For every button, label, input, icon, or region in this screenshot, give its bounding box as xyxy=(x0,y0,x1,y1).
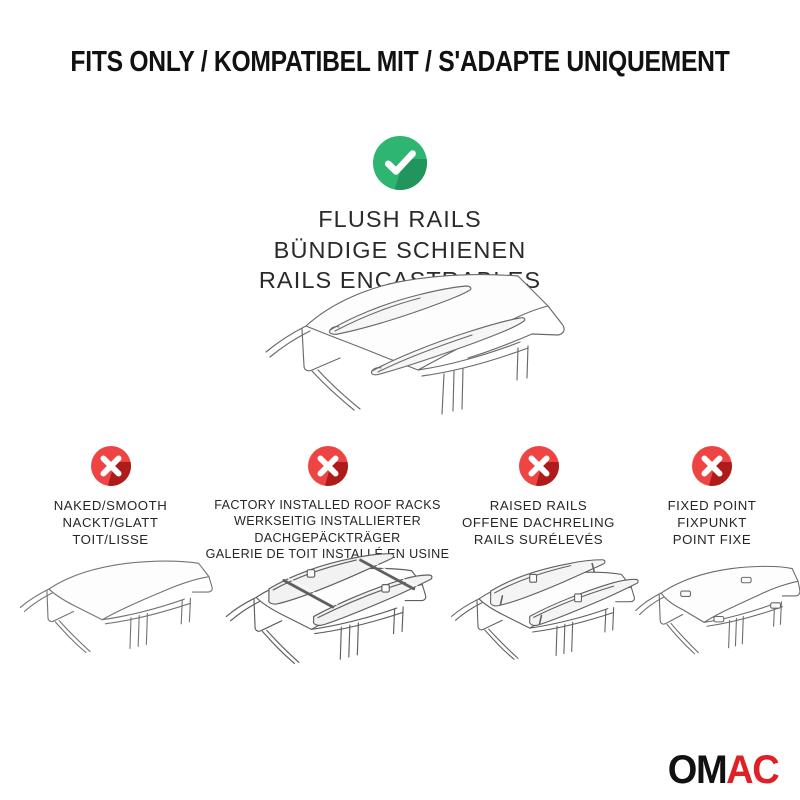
x-circle-icon xyxy=(519,446,559,486)
x-circle-icon xyxy=(91,446,131,486)
car-roof-raised-rails-illustration xyxy=(436,550,641,671)
car-roof-naked-smooth-illustration xyxy=(8,550,213,673)
option-label-fr: POINT FIXE xyxy=(624,531,800,548)
option-caption: RAISED RAILS OFFENE DACHRELING RAILS SUR… xyxy=(436,497,641,548)
option-fixed-point: FIXED POINT FIXPUNKT POINT FIXE xyxy=(624,446,800,548)
option-label-de: NACKT/GLATT xyxy=(8,514,213,531)
option-label-en: FIXED POINT xyxy=(624,497,800,514)
car-roof-fixed-point-illustration xyxy=(624,550,800,669)
option-caption: FIXED POINT FIXPUNKT POINT FIXE xyxy=(624,497,800,548)
logo-text-dark: OM xyxy=(668,748,726,792)
check-circle-icon xyxy=(373,136,427,190)
x-circle-icon xyxy=(692,446,732,486)
option-caption: NAKED/SMOOTH NACKT/GLATT TOIT/LISSE xyxy=(8,497,213,548)
x-circle-icon xyxy=(308,446,348,486)
option-factory-roof-racks: FACTORY INSTALLED ROOF RACKS WERKSEITIG … xyxy=(205,446,450,562)
option-label-en: RAISED RAILS xyxy=(436,497,641,514)
car-roof-flush-rails-illustration xyxy=(232,270,584,432)
option-label-de: FIXPUNKT xyxy=(624,514,800,531)
omac-logo: OMAC xyxy=(668,750,778,790)
option-label-en: NAKED/SMOOTH xyxy=(8,497,213,514)
incompatible-options-row: NAKED/SMOOTH NACKT/GLATT TOIT/LISSE xyxy=(0,446,800,696)
logo-text-red: AC xyxy=(726,748,778,792)
page-header: FITS ONLY / KOMPATIBEL MIT / S'ADAPTE UN… xyxy=(0,48,800,78)
car-roof-factory-racks-illustration xyxy=(205,542,450,678)
page-title: FITS ONLY / KOMPATIBEL MIT / S'ADAPTE UN… xyxy=(70,48,729,78)
compatible-label-en: FLUSH RAILS xyxy=(0,204,800,235)
option-label-de: OFFENE DACHRELING xyxy=(436,514,641,531)
option-label-en: FACTORY INSTALLED ROOF RACKS xyxy=(205,497,450,513)
option-label-fr: TOIT/LISSE xyxy=(8,531,213,548)
compatible-label-de: BÜNDIGE SCHIENEN xyxy=(0,235,800,266)
option-raised-rails: RAISED RAILS OFFENE DACHRELING RAILS SUR… xyxy=(436,446,641,548)
option-label-de-1: WERKSEITIG INSTALLIERTER xyxy=(205,513,450,529)
option-naked-smooth: NAKED/SMOOTH NACKT/GLATT TOIT/LISSE xyxy=(8,446,213,548)
option-label-fr: RAILS SURÉLEVÉS xyxy=(436,531,641,548)
